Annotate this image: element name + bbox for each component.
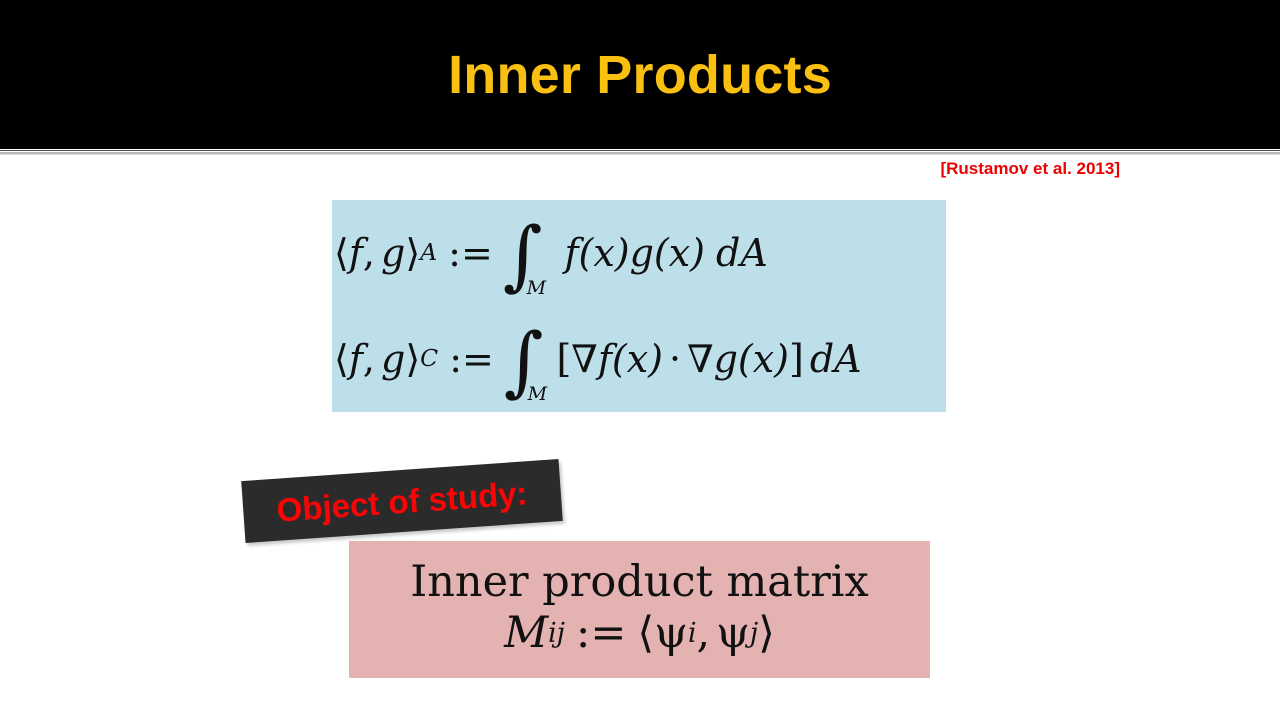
inner-product-matrix-box: Inner product matrix Mij:=⟨ψi,ψj⟩ — [349, 541, 930, 678]
subscript-C: C — [420, 347, 438, 371]
equation-inner-product-area: ⟨f,g⟩A:= ∫ M f(x)g(x)dA — [334, 232, 768, 274]
citation-reference: [Rustamov et al. 2013] — [940, 159, 1120, 179]
equation-row-conformal: ⟨f,g⟩C:= ∫ M [∇f(x)·∇g(x)]dA — [332, 306, 946, 412]
symbol-g: g — [381, 340, 405, 378]
inner-product-definitions-box: ⟨f,g⟩A:= ∫ M f(x)g(x)dA ⟨f,g⟩C:= ∫ M [∇f… — [332, 200, 946, 412]
comma: , — [363, 234, 375, 272]
integral-sign: ∫ M — [504, 340, 544, 382]
angle-bracket-open: ⟨ — [334, 234, 349, 272]
angle-bracket-open: ⟨ — [637, 609, 654, 658]
object-of-study-label: Object of study: — [276, 476, 529, 526]
psi-j-symbol: ψ — [716, 609, 750, 658]
symbol-g: g — [381, 234, 405, 272]
inner-product-matrix-title: Inner product matrix — [410, 560, 869, 605]
gradient-g: ∇g(x) — [687, 340, 789, 378]
integrand-fx-gx: f(x)g(x) — [564, 234, 705, 272]
angle-bracket-close: ⟩ — [405, 340, 420, 378]
object-of-study-banner: Object of study: — [241, 459, 563, 543]
psi-i-symbol: ψ — [654, 609, 688, 658]
measure-dA: dA — [810, 340, 862, 378]
integral-sign: ∫ M — [503, 234, 543, 276]
bracket-open: [ — [556, 340, 571, 378]
page-title: Inner Products — [448, 48, 832, 102]
assign-operator: := — [576, 609, 627, 658]
gradient-f: ∇f(x) — [571, 340, 663, 378]
slide-canvas: Inner Products [Rustamov et al. 2013] ⟨f… — [0, 0, 1280, 718]
angle-bracket-close: ⟩ — [405, 234, 420, 272]
assign-operator: := — [449, 340, 494, 378]
psi-j-subscript: j — [750, 619, 758, 650]
comma: , — [363, 340, 375, 378]
measure-dA: dA — [716, 234, 768, 272]
angle-bracket-close: ⟩ — [758, 609, 775, 658]
psi-i-subscript: i — [688, 619, 697, 650]
equation-row-area: ⟨f,g⟩A:= ∫ M f(x)g(x)dA — [332, 200, 946, 306]
subscript-ij: ij — [548, 619, 565, 650]
inner-product-matrix-formula: Mij:=⟨ψi,ψj⟩ — [504, 609, 775, 658]
symbol-f: f — [349, 340, 363, 378]
comma: , — [696, 609, 710, 658]
bracket-close: ] — [789, 340, 804, 378]
matrix-symbol-M: M — [504, 609, 548, 658]
slide-header: Inner Products — [0, 0, 1280, 149]
angle-bracket-open: ⟨ — [334, 340, 349, 378]
dot-product-operator: · — [669, 340, 681, 378]
symbol-f: f — [349, 234, 363, 272]
assign-operator: := — [448, 234, 493, 272]
header-divider — [0, 149, 1280, 157]
integral-limit-M: M — [528, 385, 547, 404]
integral-limit-M: M — [527, 279, 546, 298]
subscript-A: A — [420, 241, 437, 265]
equation-inner-product-conformal: ⟨f,g⟩C:= ∫ M [∇f(x)·∇g(x)]dA — [334, 338, 862, 380]
